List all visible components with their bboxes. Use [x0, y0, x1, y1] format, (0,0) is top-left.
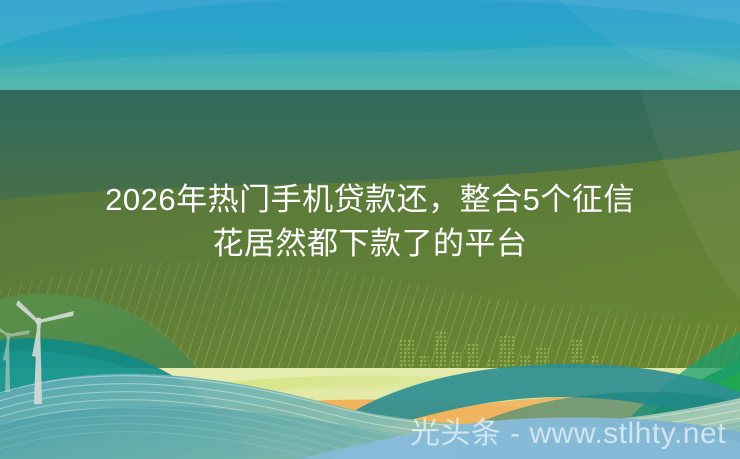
promo-banner: 2026年热门手机贷款还，整合5个征信 花居然都下款了的平台 光头条 - www…: [0, 0, 740, 459]
site-watermark: 光头条 - www.stlhty.net: [410, 417, 726, 451]
title-line-2: 花居然都下款了的平台: [18, 222, 722, 266]
banner-title: 2026年热门手机贷款还，整合5个征信 花居然都下款了的平台: [0, 178, 740, 266]
title-line-1: 2026年热门手机贷款还，整合5个征信: [18, 178, 722, 222]
